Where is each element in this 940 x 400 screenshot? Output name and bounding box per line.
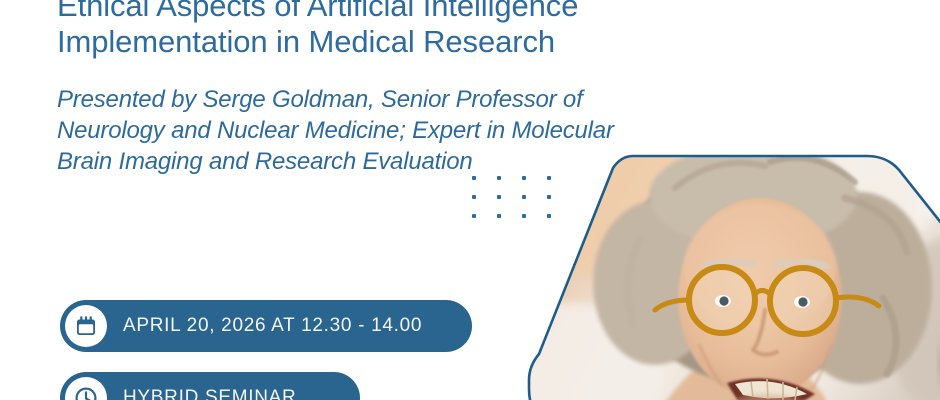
seminar-poster: Ethical Aspects of Artificial Intelligen… xyxy=(0,0,940,400)
portrait-frame xyxy=(515,148,940,400)
dot-grid-decoration xyxy=(472,176,572,233)
calendar-icon xyxy=(65,305,107,347)
dot xyxy=(497,195,501,199)
badge-date[interactable]: APRIL 20, 2026 AT 12.30 - 14.00 xyxy=(60,300,472,352)
dot xyxy=(522,195,526,199)
page-title-line-1: Ethical Aspects of Artificial Intelligen… xyxy=(57,0,817,24)
page-title-line-2: Implementation in Medical Research xyxy=(57,24,817,60)
clock-icon xyxy=(65,377,107,400)
dot xyxy=(547,195,551,199)
poster-text-block: Ethical Aspects of Artificial Intelligen… xyxy=(57,0,817,177)
dot xyxy=(522,214,526,218)
dot xyxy=(497,214,501,218)
badge-seminar-mode[interactable]: HYBRID SEMINAR xyxy=(60,372,360,400)
dot xyxy=(472,195,476,199)
badge-date-label: APRIL 20, 2026 AT 12.30 - 14.00 xyxy=(123,315,422,337)
presenter-line-1: Presented by Serge Goldman, Senior Profe… xyxy=(57,60,817,115)
dot xyxy=(547,214,551,218)
speaker-portrait xyxy=(515,148,940,400)
presenter-line-3: Brain Imaging and Research Evaluation xyxy=(57,146,817,177)
dot xyxy=(472,214,476,218)
badge-seminar-mode-label: HYBRID SEMINAR xyxy=(123,387,296,400)
presenter-line-2: Neurology and Nuclear Medicine; Expert i… xyxy=(57,115,817,146)
